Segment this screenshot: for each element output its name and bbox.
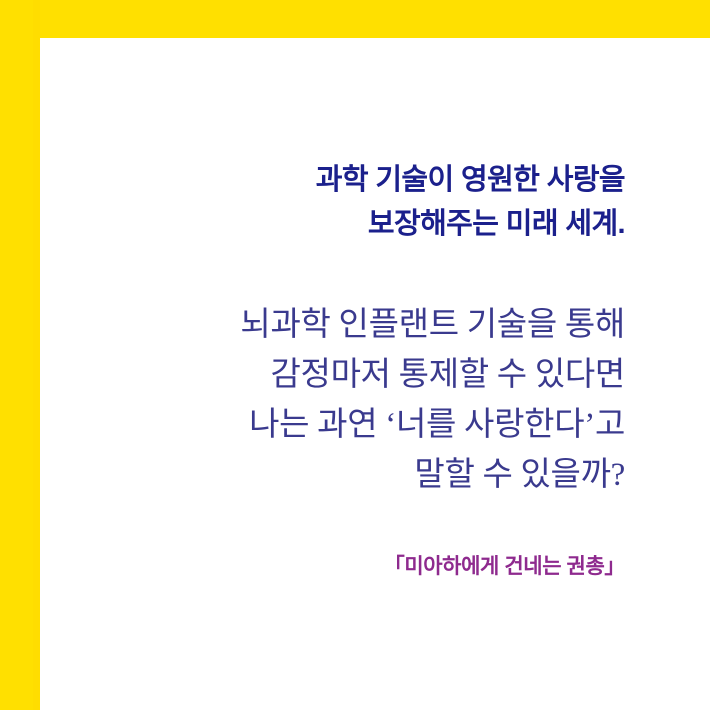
yellow-left-band [0, 0, 33, 710]
source-title: 「미아하에게 건네는 권총」 [105, 552, 625, 582]
quote-body: 뇌과학 인플랜트 기술을 통해 감정마저 통제할 수 있다면 나는 과연 ‘너를… [85, 300, 625, 500]
quote-card: 과학 기술이 영원한 사랑을 보장해주는 미래 세계. 뇌과학 인플랜트 기술을… [0, 0, 710, 710]
headline: 과학 기술이 영원한 사랑을 보장해주는 미래 세계. [105, 158, 625, 246]
content-column: 과학 기술이 영원한 사랑을 보장해주는 미래 세계. 뇌과학 인플랜트 기술을… [40, 0, 710, 710]
yellow-left-band-inner-stripe [33, 0, 40, 710]
